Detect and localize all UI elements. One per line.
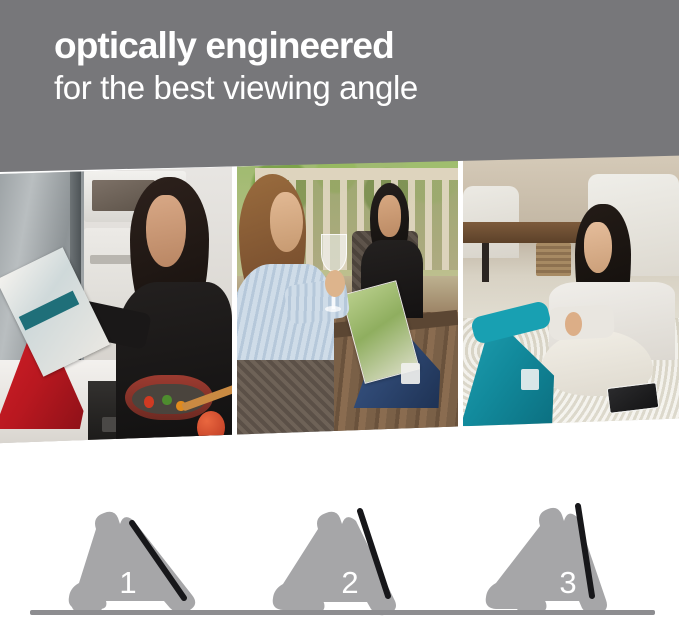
- headline-block: optically engineered for the best viewin…: [54, 26, 654, 108]
- photo-deck: [237, 150, 458, 450]
- step-number-2: 2: [341, 565, 358, 600]
- woman-face: [146, 195, 185, 267]
- girl-face: [584, 222, 612, 273]
- diagram-step-3: 3: [486, 506, 607, 615]
- woman2-face: [378, 195, 400, 237]
- brand-badge-icon: [521, 369, 538, 390]
- girl-arm: [549, 304, 615, 340]
- photo-rug: [463, 150, 679, 450]
- vegetable-green: [162, 395, 171, 406]
- photo-kitchen: [0, 150, 232, 450]
- diagram-step-1: 1: [69, 512, 195, 613]
- product-feature-graphic: optically engineered for the best viewin…: [0, 0, 679, 623]
- photo-deck-scene: [237, 150, 458, 450]
- woven-basket: [536, 243, 571, 276]
- diagram-step-2: 2: [273, 511, 396, 615]
- wine-glass-bowl: [321, 234, 347, 272]
- woman1-face: [270, 192, 303, 252]
- headline-secondary: for the best viewing angle: [54, 68, 654, 108]
- step-number-3: 3: [559, 565, 576, 600]
- photo-rug-scene: [463, 150, 679, 450]
- coffee-table: [463, 222, 584, 243]
- brand-badge-icon: [401, 363, 421, 384]
- photo-kitchen-scene: [0, 150, 232, 450]
- ground-baseline: [30, 610, 655, 615]
- photo-strip: [0, 150, 679, 450]
- table-leg: [482, 243, 488, 282]
- viewing-angle-diagram: 1 2 3: [0, 438, 679, 623]
- headline-primary: optically engineered: [54, 26, 654, 66]
- wine-glass-base: [325, 306, 340, 312]
- wicker-chair: [237, 360, 334, 450]
- step-number-1: 1: [119, 565, 136, 600]
- girl-hand: [565, 312, 582, 336]
